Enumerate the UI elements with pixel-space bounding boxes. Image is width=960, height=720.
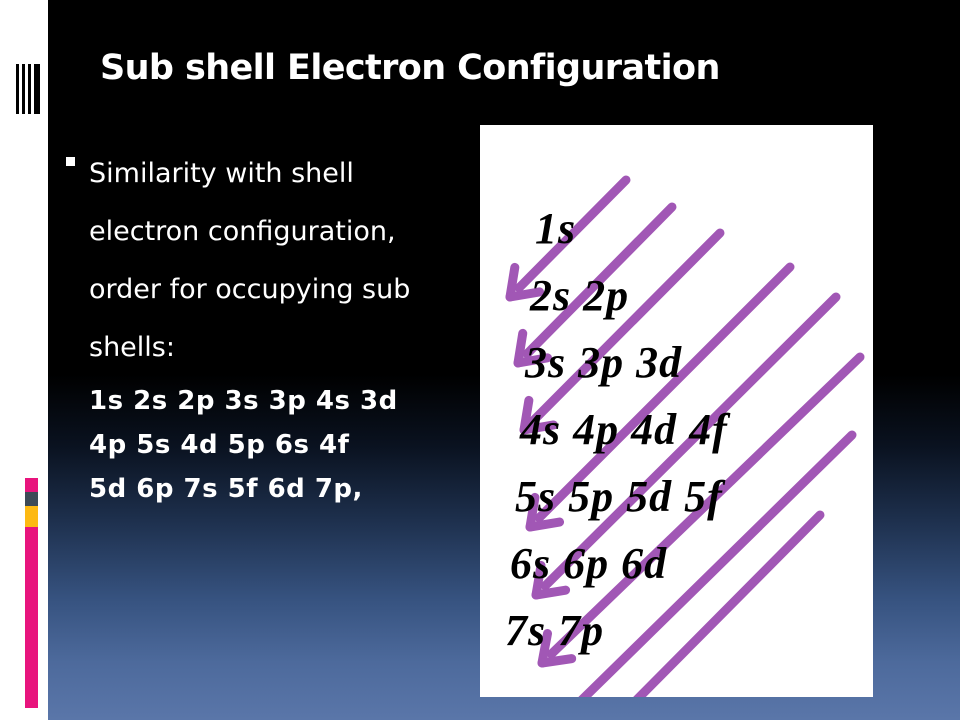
orbital-order-line: 1s 2s 2p 3s 3p 4s 3d	[89, 379, 466, 423]
body-content: Similarity with shell electron configura…	[66, 145, 466, 511]
accent-segment-magenta-top	[25, 478, 38, 492]
orbital-order-line: 4p 5s 4d 5p 6s 4f	[89, 423, 466, 467]
accent-segment-amber	[25, 506, 38, 527]
slide-canvas: Sub shell Electron Configuration Similar…	[0, 0, 960, 720]
aufbau-row-label: 2s 2p	[530, 270, 629, 321]
aufbau-row-label: 7s 7p	[505, 605, 604, 656]
aufbau-row-label: 5s 5p 5d 5f	[515, 471, 723, 522]
barcode-marks-icon	[16, 64, 42, 114]
aufbau-diagram-panel: 1s2s 2p3s 3p 3d4s 4p 4d 4f5s 5p 5d 5f6s …	[480, 125, 873, 697]
aufbau-row-label: 6s 6p 6d	[510, 538, 667, 589]
accent-segment-magenta-main	[25, 527, 38, 708]
barcode-bar	[22, 64, 25, 114]
barcode-bar	[34, 64, 40, 114]
slide-title: Sub shell Electron Configuration	[100, 48, 800, 88]
accent-segment-slate	[25, 492, 38, 506]
bullet-text: Similarity with shell electron configura…	[89, 145, 419, 377]
aufbau-row-label: 1s	[535, 203, 576, 254]
bullet-item: Similarity with shell electron configura…	[66, 145, 466, 377]
orbital-order-line: 5d 6p 7s 5f 6d 7p,	[89, 467, 466, 511]
barcode-bar	[16, 64, 19, 114]
orbital-order-list: 1s 2s 2p 3s 3p 4s 3d 4p 5s 4d 5p 6s 4f 5…	[89, 379, 466, 511]
color-accent-rule	[25, 478, 38, 708]
aufbau-row-label: 4s 4p 4d 4f	[520, 404, 728, 455]
aufbau-row-label: 3s 3p 3d	[525, 337, 682, 388]
barcode-bar	[28, 64, 31, 114]
square-bullet-icon	[66, 157, 75, 166]
